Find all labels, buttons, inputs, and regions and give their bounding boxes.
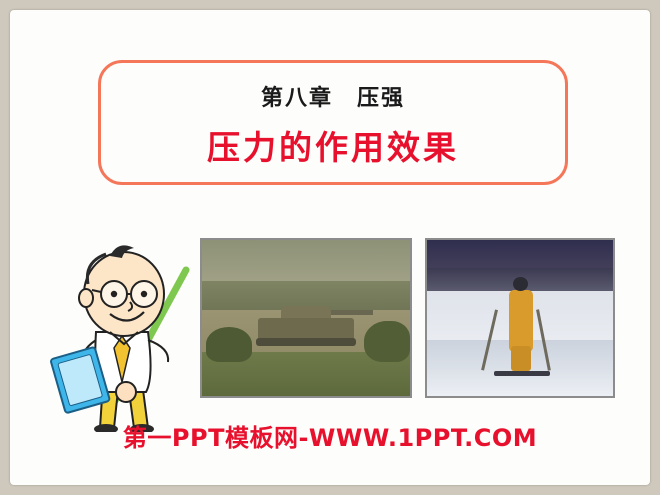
skier-skis bbox=[494, 371, 550, 376]
tank-photo bbox=[200, 238, 412, 398]
cartoon-boy-icon bbox=[48, 232, 198, 432]
page-title: 压力的作用效果 bbox=[101, 121, 565, 169]
skier-photo bbox=[425, 238, 615, 398]
tank-bush-left bbox=[206, 327, 252, 361]
footer-watermark: 第一PPT模板网-WWW.1PPT.COM bbox=[10, 418, 650, 453]
mascot-illustration bbox=[48, 232, 198, 432]
tank-bush-right bbox=[364, 321, 410, 362]
title-box: 第八章 压强 压力的作用效果 bbox=[98, 60, 568, 185]
skier-legs bbox=[511, 346, 531, 371]
tank-track bbox=[256, 338, 356, 346]
chapter-heading: 第八章 压强 bbox=[101, 80, 565, 112]
skier-torso bbox=[509, 290, 533, 352]
presentation-slide: 第八章 压强 压力的作用效果 bbox=[10, 10, 650, 485]
